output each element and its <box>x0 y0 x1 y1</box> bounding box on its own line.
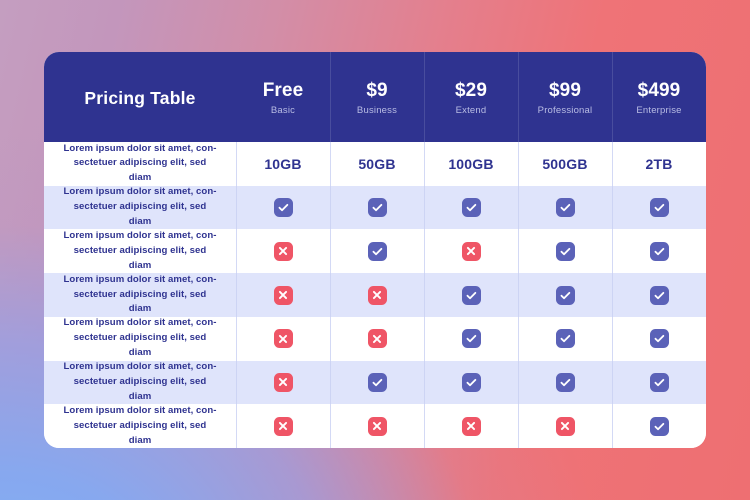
table-row: Lorem ipsum dolor sit amet, con-sectetue… <box>44 186 706 230</box>
feature-value-cell: 10GB <box>236 142 330 186</box>
check-icon <box>462 286 481 305</box>
feature-value-cell <box>330 404 424 448</box>
feature-value-cell <box>518 317 612 361</box>
pricing-table-page: Pricing Table FreeBasic$9Business$29Exte… <box>0 0 750 500</box>
feature-label: Lorem ipsum dolor sit amet, con-sectetue… <box>62 142 218 187</box>
feature-value-cell <box>330 361 424 405</box>
feature-value-cell: 50GB <box>330 142 424 186</box>
table-row: Lorem ipsum dolor sit amet, con-sectetue… <box>44 273 706 317</box>
check-icon <box>462 329 481 348</box>
feature-value-cell <box>236 186 330 230</box>
plan-price: $499 <box>638 80 681 102</box>
check-icon <box>650 242 669 261</box>
check-icon <box>650 417 669 436</box>
plan-name: Extend <box>456 105 487 116</box>
feature-label-cell: Lorem ipsum dolor sit amet, con-sectetue… <box>44 229 236 273</box>
feature-value-cell <box>236 361 330 405</box>
check-icon <box>462 198 481 217</box>
feature-value-cell <box>612 186 706 230</box>
feature-value-cell <box>424 229 518 273</box>
feature-value-cell <box>612 404 706 448</box>
feature-value-cell: 100GB <box>424 142 518 186</box>
cross-icon <box>462 417 481 436</box>
cross-icon <box>368 417 387 436</box>
feature-value-cell <box>424 317 518 361</box>
table-row: Lorem ipsum dolor sit amet, con-sectetue… <box>44 229 706 273</box>
check-icon <box>556 198 575 217</box>
feature-value-cell <box>424 404 518 448</box>
cross-icon <box>274 242 293 261</box>
feature-value-cell <box>330 273 424 317</box>
feature-value-cell <box>330 317 424 361</box>
feature-label: Lorem ipsum dolor sit amet, con-sectetue… <box>62 360 218 405</box>
check-icon <box>650 373 669 392</box>
page-title: Pricing Table <box>84 88 195 109</box>
feature-label: Lorem ipsum dolor sit amet, con-sectetue… <box>62 273 218 318</box>
feature-label-cell: Lorem ipsum dolor sit amet, con-sectetue… <box>44 273 236 317</box>
check-icon <box>462 373 481 392</box>
pricing-table-card: Pricing Table FreeBasic$9Business$29Exte… <box>44 52 706 448</box>
feature-value-cell <box>424 186 518 230</box>
table-row: Lorem ipsum dolor sit amet, con-sectetue… <box>44 404 706 448</box>
feature-value-cell: 500GB <box>518 142 612 186</box>
feature-label: Lorem ipsum dolor sit amet, con-sectetue… <box>62 316 218 361</box>
cross-icon <box>556 417 575 436</box>
cross-icon <box>368 286 387 305</box>
cross-icon <box>274 373 293 392</box>
plan-price: $9 <box>366 80 387 102</box>
check-icon <box>274 198 293 217</box>
check-icon <box>650 329 669 348</box>
feature-value-cell <box>612 317 706 361</box>
table-header-title-cell: Pricing Table <box>44 52 236 142</box>
feature-label: Lorem ipsum dolor sit amet, con-sectetue… <box>62 229 218 274</box>
feature-value-cell <box>612 361 706 405</box>
feature-label-cell: Lorem ipsum dolor sit amet, con-sectetue… <box>44 317 236 361</box>
plan-name: Professional <box>538 105 593 116</box>
feature-label: Lorem ipsum dolor sit amet, con-sectetue… <box>62 404 218 448</box>
table-header-row: Pricing Table FreeBasic$9Business$29Exte… <box>44 52 706 142</box>
feature-value-cell <box>612 273 706 317</box>
feature-value-cell <box>236 404 330 448</box>
feature-value-cell <box>518 404 612 448</box>
feature-value-cell <box>518 229 612 273</box>
cross-icon <box>462 242 481 261</box>
plan-name: Business <box>357 105 397 116</box>
cross-icon <box>368 329 387 348</box>
check-icon <box>556 286 575 305</box>
feature-value-cell <box>236 273 330 317</box>
plan-price: Free <box>263 80 304 102</box>
table-header-plan-business[interactable]: $9Business <box>330 52 424 142</box>
check-icon <box>556 373 575 392</box>
plan-name: Basic <box>271 105 295 116</box>
cross-icon <box>274 286 293 305</box>
feature-label-cell: Lorem ipsum dolor sit amet, con-sectetue… <box>44 404 236 448</box>
feature-value-cell <box>518 273 612 317</box>
check-icon <box>368 373 387 392</box>
cross-icon <box>274 329 293 348</box>
table-header-plan-basic[interactable]: FreeBasic <box>236 52 330 142</box>
storage-value: 50GB <box>358 156 395 172</box>
feature-label-cell: Lorem ipsum dolor sit amet, con-sectetue… <box>44 142 236 186</box>
check-icon <box>556 242 575 261</box>
storage-value: 10GB <box>264 156 301 172</box>
feature-value-cell <box>236 229 330 273</box>
feature-value-cell <box>236 317 330 361</box>
table-body: Lorem ipsum dolor sit amet, con-sectetue… <box>44 142 706 448</box>
storage-value: 500GB <box>542 156 587 172</box>
table-header-plan-extend[interactable]: $29Extend <box>424 52 518 142</box>
table-header-plan-enterprise[interactable]: $499Enterprise <box>612 52 706 142</box>
check-icon <box>556 329 575 348</box>
feature-value-cell <box>518 361 612 405</box>
table-row: Lorem ipsum dolor sit amet, con-sectetue… <box>44 361 706 405</box>
feature-label-cell: Lorem ipsum dolor sit amet, con-sectetue… <box>44 186 236 230</box>
feature-value-cell <box>518 186 612 230</box>
feature-label: Lorem ipsum dolor sit amet, con-sectetue… <box>62 185 218 230</box>
table-row: Lorem ipsum dolor sit amet, con-sectetue… <box>44 317 706 361</box>
feature-value-cell <box>330 186 424 230</box>
feature-value-cell <box>612 229 706 273</box>
plan-price: $99 <box>549 80 581 102</box>
feature-value-cell <box>424 361 518 405</box>
plan-price: $29 <box>455 80 487 102</box>
check-icon <box>368 242 387 261</box>
plan-name: Enterprise <box>636 105 681 116</box>
cross-icon <box>274 417 293 436</box>
check-icon <box>368 198 387 217</box>
check-icon <box>650 198 669 217</box>
table-header-plan-professional[interactable]: $99Professional <box>518 52 612 142</box>
table-row: Lorem ipsum dolor sit amet, con-sectetue… <box>44 142 706 186</box>
feature-value-cell: 2TB <box>612 142 706 186</box>
feature-value-cell <box>330 229 424 273</box>
storage-value: 2TB <box>645 156 672 172</box>
feature-label-cell: Lorem ipsum dolor sit amet, con-sectetue… <box>44 361 236 405</box>
check-icon <box>650 286 669 305</box>
feature-value-cell <box>424 273 518 317</box>
storage-value: 100GB <box>448 156 493 172</box>
